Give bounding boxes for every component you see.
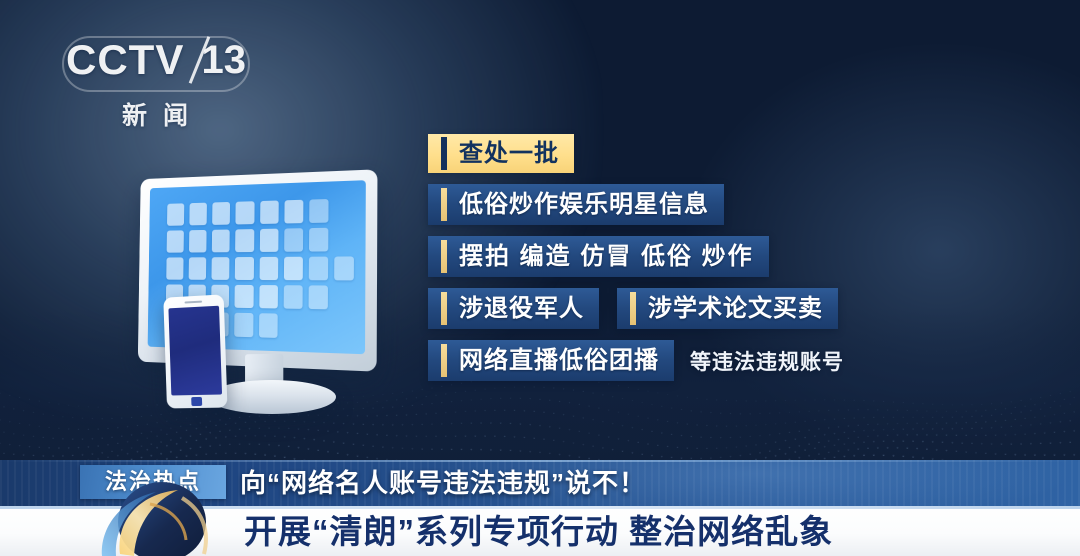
app-icon <box>309 228 328 252</box>
lower-third-banner: 法治热点 向“网络名人账号违法违规”说不！ 开展“清朗”系列专项行动 整治网络乱… <box>0 460 1080 556</box>
app-icon <box>259 285 278 309</box>
app-icon <box>213 202 231 225</box>
callout-heading-label: 查处一批 <box>459 142 559 166</box>
callout-chip: 涉学术论文买卖 <box>617 288 838 329</box>
callout-row-heading: 查处一批 <box>428 134 928 173</box>
app-icon <box>212 257 230 280</box>
app-icon <box>167 230 184 253</box>
callout-chip-label: 低俗炒作娱乐明星信息 <box>459 193 709 217</box>
device-illustration <box>112 168 392 430</box>
callout-row-2: 摆拍 编造 仿冒 低俗 炒作 <box>428 236 928 277</box>
app-icon <box>283 314 302 338</box>
callout-chip: 摆拍 编造 仿冒 低俗 炒作 <box>428 236 769 277</box>
app-icon <box>260 200 279 224</box>
app-icon <box>308 315 327 339</box>
app-icon <box>189 230 207 253</box>
chip-accent-bar <box>441 344 447 377</box>
logo-subtitle: 新闻 <box>66 96 246 132</box>
app-icon <box>190 202 208 225</box>
monitor-stand-base <box>208 380 336 414</box>
chip-accent-bar <box>441 240 447 273</box>
logo-ring <box>62 36 250 92</box>
callout-chip-label: 涉学术论文买卖 <box>648 297 823 321</box>
globe-swoosh-icon <box>86 478 246 556</box>
app-icon <box>309 199 328 223</box>
callout-chip-label: 涉退役军人 <box>459 297 584 321</box>
app-icon <box>212 229 230 252</box>
smartphone-icon <box>163 294 227 408</box>
app-icon <box>189 257 207 280</box>
chip-accent-bar <box>441 137 447 170</box>
app-icon <box>308 286 327 310</box>
callout-chip: 网络直播低俗团播 <box>428 340 674 381</box>
app-icon <box>259 314 278 338</box>
channel-logo: CCTV 13 新闻 <box>66 34 246 126</box>
callout-list: 查处一批 低俗炒作娱乐明星信息 摆拍 编造 仿冒 低俗 炒作 涉退役军人 涉学术… <box>428 134 928 381</box>
app-icon <box>167 257 184 280</box>
app-icon <box>235 285 253 308</box>
app-icon <box>333 315 353 340</box>
app-icon <box>283 257 302 281</box>
callout-chip-label: 摆拍 编造 仿冒 低俗 炒作 <box>459 245 754 269</box>
app-icon <box>308 257 327 281</box>
callout-row-3: 涉退役军人 涉学术论文买卖 <box>428 288 928 329</box>
app-icon <box>334 286 354 310</box>
app-icon <box>334 198 354 222</box>
phone-home-button <box>191 397 202 406</box>
app-icon <box>334 227 354 251</box>
callout-row-1: 低俗炒作娱乐明星信息 <box>428 184 928 225</box>
callout-heading-chip: 查处一批 <box>428 134 574 173</box>
app-icon <box>334 256 354 280</box>
app-icon <box>235 313 253 337</box>
callout-chip: 涉退役军人 <box>428 288 599 329</box>
phone-speaker <box>185 301 203 304</box>
callout-chip: 低俗炒作娱乐明星信息 <box>428 184 724 225</box>
lower-third-title: 开展“清朗”系列专项行动 整治网络乱象 <box>244 506 833 556</box>
app-icon <box>259 257 278 280</box>
app-icon <box>284 228 303 252</box>
app-icon <box>259 228 278 252</box>
callout-trailing-text: 等违法违规账号 <box>690 346 844 376</box>
broadcast-frame: CCTV 13 新闻 <box>0 0 1080 556</box>
chip-accent-bar <box>441 188 447 221</box>
chip-accent-bar <box>630 292 636 325</box>
app-icon <box>167 203 184 226</box>
app-icon <box>284 199 303 223</box>
lower-third-top-rule <box>0 460 1080 462</box>
lower-third-headline: 向“网络名人账号违法违规”说不！ <box>240 464 646 502</box>
app-icon <box>236 229 254 252</box>
app-icon <box>283 285 302 309</box>
callout-row-4: 网络直播低俗团播 等违法违规账号 <box>428 340 928 381</box>
app-icon <box>236 201 254 224</box>
logo-divider-icon <box>190 37 199 83</box>
chip-accent-bar <box>441 292 447 325</box>
app-icon <box>235 257 253 280</box>
callout-chip-label: 网络直播低俗团播 <box>459 349 659 373</box>
phone-screen <box>168 306 222 396</box>
